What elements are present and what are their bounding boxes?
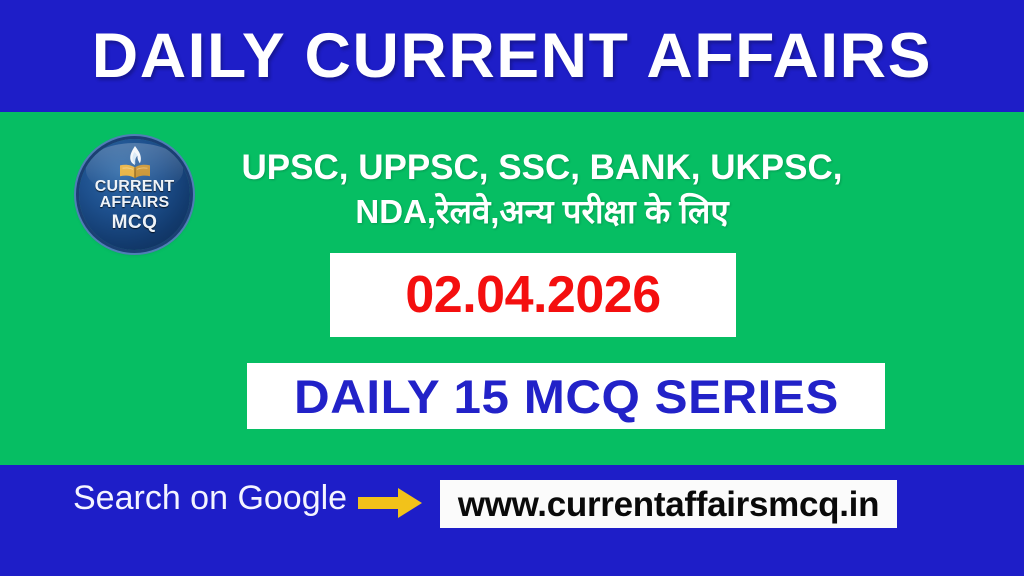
target-exams-line-1: UPSC, UPPSC, SSC, BANK, UKPSC, bbox=[212, 146, 872, 191]
brand-logo-badge: CURRENT AFFAIRS MCQ bbox=[79, 139, 190, 250]
search-on-google-label: Search on Google bbox=[73, 481, 347, 515]
page-title: DAILY CURRENT AFFAIRS bbox=[92, 25, 932, 88]
website-url-box[interactable]: www.currentaffairsmcq.in bbox=[440, 480, 897, 528]
brand-logo-line-1: CURRENT bbox=[79, 179, 190, 195]
right-arrow-icon bbox=[358, 486, 424, 520]
daily-current-affairs-poster: DAILY CURRENT AFFAIRS CURRENT AFFAIRS MC… bbox=[0, 0, 1024, 576]
header-band: DAILY CURRENT AFFAIRS bbox=[0, 0, 1024, 112]
brand-logo-text: CURRENT AFFAIRS MCQ bbox=[79, 179, 190, 232]
target-exams-line-2: NDA,रेलवे,अन्य परीक्षा के लिए bbox=[212, 191, 872, 233]
date-value: 02.04.2026 bbox=[405, 269, 660, 321]
series-box: DAILY 15 MCQ SERIES bbox=[247, 363, 885, 429]
brand-logo-line-3: MCQ bbox=[79, 213, 190, 232]
target-exams-text: UPSC, UPPSC, SSC, BANK, UKPSC, NDA,रेलवे… bbox=[212, 146, 872, 233]
date-box: 02.04.2026 bbox=[330, 253, 736, 337]
brand-logo-line-2: AFFAIRS bbox=[79, 195, 190, 211]
website-url: www.currentaffairsmcq.in bbox=[458, 487, 879, 522]
series-value: DAILY 15 MCQ SERIES bbox=[294, 373, 839, 420]
torch-and-open-book-icon bbox=[79, 144, 190, 182]
